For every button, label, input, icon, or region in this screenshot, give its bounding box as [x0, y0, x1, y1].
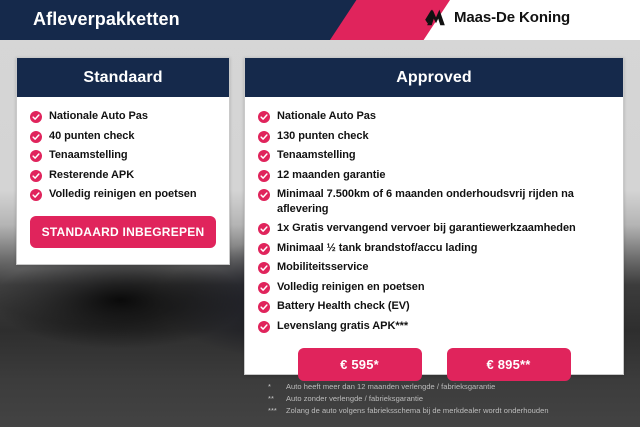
footnote-triple-asterisk: *** Zolang de auto volgens fabrieksschem…: [268, 405, 628, 417]
feature-label: Resterende APK: [49, 168, 134, 183]
package-card-standaard: Standaard Nationale Auto Pas 40 punten c…: [16, 57, 230, 265]
feature-label: Nationale Auto Pas: [49, 109, 148, 124]
list-item: Levenslang gratis APK***: [258, 319, 613, 334]
feature-label: Levenslang gratis APK***: [277, 319, 408, 334]
footnote-marker: *: [268, 381, 286, 393]
brand-name: Maas-De Koning: [454, 9, 570, 26]
footnote-double-asterisk: ** Auto zonder verlengde / fabrieksgaran…: [268, 393, 628, 405]
check-circle-icon: [258, 301, 270, 313]
card-header-standaard: Standaard: [17, 58, 229, 97]
list-item: Nationale Auto Pas: [30, 109, 219, 124]
check-circle-icon: [258, 243, 270, 255]
standaard-cta-wrap: STANDAARD INBEGREPEN: [17, 207, 229, 248]
list-item: Tenaamstelling: [258, 148, 613, 163]
list-item: Mobiliteitsservice: [258, 260, 613, 275]
feature-label: Volledig reinigen en poetsen: [277, 280, 425, 295]
check-circle-icon: [30, 131, 42, 143]
check-circle-icon: [30, 111, 42, 123]
feature-label: Nationale Auto Pas: [277, 109, 376, 124]
list-item: Tenaamstelling: [30, 148, 219, 163]
footnote-marker: **: [268, 393, 286, 405]
feature-label: 130 punten check: [277, 129, 369, 144]
feature-label: Volledig reinigen en poetsen: [49, 187, 197, 202]
footnote-single-asterisk: * Auto heeft meer dan 12 maanden verleng…: [268, 381, 628, 393]
feature-label: Battery Health check (EV): [277, 299, 410, 314]
list-item: 1x Gratis vervangend vervoer bij garanti…: [258, 221, 613, 236]
feature-label: 1x Gratis vervangend vervoer bij garanti…: [277, 221, 576, 236]
check-circle-icon: [258, 321, 270, 333]
check-circle-icon: [258, 170, 270, 182]
card-header-approved: Approved: [245, 58, 623, 97]
check-circle-icon: [30, 189, 42, 201]
price-button-895[interactable]: € 895**: [447, 348, 571, 381]
screenshot-root: Afleverpakketten Maas-De Koning Standaar…: [0, 0, 640, 427]
footnote-marker: ***: [268, 405, 286, 417]
feature-label: Minimaal 7.500km of 6 maanden onderhouds…: [277, 187, 613, 216]
package-card-approved: Approved Nationale Auto Pas 130 punten c…: [244, 57, 624, 375]
list-item: Volledig reinigen en poetsen: [258, 280, 613, 295]
list-item: 40 punten check: [30, 129, 219, 144]
feature-list-approved: Nationale Auto Pas 130 punten check Tena…: [245, 97, 623, 333]
list-item: Nationale Auto Pas: [258, 109, 613, 124]
feature-label: Mobiliteitsservice: [277, 260, 368, 275]
feature-list-standaard: Nationale Auto Pas 40 punten check Tenaa…: [17, 97, 229, 202]
feature-label: Minimaal ½ tank brandstof/accu lading: [277, 241, 477, 256]
check-circle-icon: [30, 150, 42, 162]
check-circle-icon: [258, 131, 270, 143]
list-item: Resterende APK: [30, 168, 219, 183]
feature-label: 12 maanden garantie: [277, 168, 385, 183]
footnotes: * Auto heeft meer dan 12 maanden verleng…: [268, 381, 628, 417]
maas-de-koning-m-icon: [425, 9, 447, 26]
list-item: 130 punten check: [258, 129, 613, 144]
standaard-inbegrepen-button[interactable]: STANDAARD INBEGREPEN: [30, 216, 216, 248]
list-item: Minimaal ½ tank brandstof/accu lading: [258, 241, 613, 256]
price-button-595[interactable]: € 595*: [298, 348, 422, 381]
check-circle-icon: [258, 282, 270, 294]
check-circle-icon: [258, 111, 270, 123]
top-brand-bar: Afleverpakketten Maas-De Koning: [0, 0, 640, 40]
check-circle-icon: [30, 170, 42, 182]
footnote-text: Zolang de auto volgens fabrieksschema bi…: [286, 405, 628, 417]
card-title-approved: Approved: [396, 69, 471, 87]
check-circle-icon: [258, 189, 270, 201]
list-item: Battery Health check (EV): [258, 299, 613, 314]
price-button-row: € 595* € 895**: [245, 338, 623, 381]
feature-label: Tenaamstelling: [49, 148, 128, 163]
list-item: 12 maanden garantie: [258, 168, 613, 183]
footnote-text: Auto heeft meer dan 12 maanden verlengde…: [286, 381, 628, 393]
footnote-text: Auto zonder verlengde / fabrieksgarantie: [286, 393, 628, 405]
card-title-standaard: Standaard: [83, 69, 162, 87]
list-item: Volledig reinigen en poetsen: [30, 187, 219, 202]
brand-logo: Maas-De Koning: [425, 9, 570, 26]
page-title: Afleverpakketten: [33, 9, 180, 30]
feature-label: 40 punten check: [49, 129, 134, 144]
feature-label: Tenaamstelling: [277, 148, 356, 163]
check-circle-icon: [258, 262, 270, 274]
check-circle-icon: [258, 223, 270, 235]
check-circle-icon: [258, 150, 270, 162]
list-item: Minimaal 7.500km of 6 maanden onderhouds…: [258, 187, 613, 216]
